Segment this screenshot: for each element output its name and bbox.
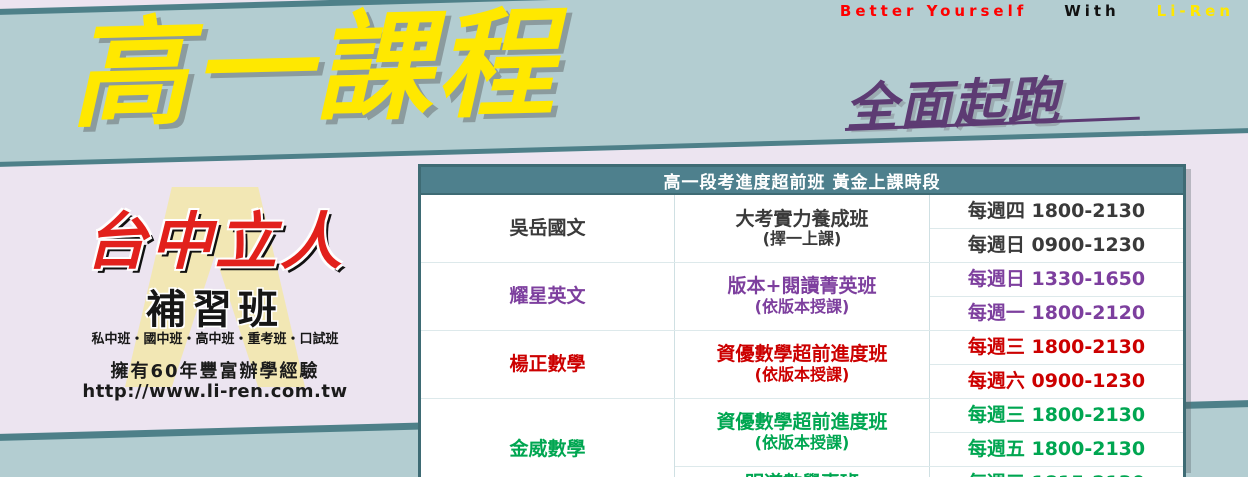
course-note: (依版本授課) [675,366,929,385]
cell-time: 每週三 1815-2130 [930,466,1185,477]
course-note: (擇一上課) [675,230,929,249]
poster-canvas: Better Yourself With Li-Ren 高一課程 全面起跑 台中… [0,0,1248,477]
logo-brand-sub: 補習班 [30,277,400,335]
logo-experience: 擁有60年豐富辦學經驗 [30,357,400,383]
logo-class-list: 私中班・國中班・高中班・重考班・口試班 [30,328,400,347]
cell-course: 明道數學專班 [675,466,930,477]
table-row: 耀星英文版本+閱讀菁英班(依版本授課)每週日 1330-1650 [420,262,1185,296]
cell-teacher: 吳岳國文 [420,194,675,262]
schedule-table-body: 吳岳國文大考實力養成班(擇一上課)每週四 1800-2130每週日 0900-1… [420,194,1185,477]
cell-teacher: 金威數學 [420,398,675,477]
cell-course: 資優數學超前進度班(依版本授課) [675,398,930,466]
schedule-table-title: 高一段考進度超前班 黃金上課時段 [420,166,1185,195]
logo-brand: 台中立人 [30,191,400,281]
course-name: 資優數學超前進度班 [716,343,887,365]
course-name: 版本+閱讀菁英班 [728,275,877,297]
cell-time: 每週六 0900-1230 [930,364,1185,398]
table-header-row: 高一段考進度超前班 黃金上課時段 [420,166,1185,195]
cell-time: 每週四 1800-2130 [930,194,1185,228]
tagline-red: Better Yourself [840,2,1027,20]
course-note: (依版本授課) [675,298,929,317]
cell-time: 每週一 1800-2120 [930,296,1185,330]
course-note: (依版本授課) [675,434,929,453]
cell-course: 版本+閱讀菁英班(依版本授課) [675,262,930,330]
tagline-yellow: Li-Ren [1157,2,1234,20]
logo: 台中立人 補習班 私中班・國中班・高中班・重考班・口試班 擁有60年豐富辦學經驗… [30,185,400,420]
course-name: 資優數學超前進度班 [716,411,887,433]
cell-time: 每週三 1800-2130 [930,398,1185,432]
cell-teacher: 楊正數學 [420,330,675,398]
course-name: 大考實力養成班 [735,208,868,230]
schedule-table: 高一段考進度超前班 黃金上課時段 吳岳國文大考實力養成班(擇一上課)每週四 18… [418,164,1186,477]
page-title: 高一課程 [68,0,559,145]
cell-time: 每週日 1330-1650 [930,262,1185,296]
schedule-table-head: 高一段考進度超前班 黃金上課時段 [420,166,1185,195]
cell-time: 每週五 1800-2130 [930,432,1185,466]
cell-course: 資優數學超前進度班(依版本授課) [675,330,930,398]
tagline-black: With [1064,2,1120,20]
course-name: 明道數學專班 [745,472,859,477]
cell-course: 大考實力養成班(擇一上課) [675,194,930,262]
logo-website-url[interactable]: http://www.li-ren.com.tw [30,381,400,402]
cell-time: 每週三 1800-2130 [930,330,1185,364]
cell-time: 每週日 0900-1230 [930,228,1185,262]
table-row: 吳岳國文大考實力養成班(擇一上課)每週四 1800-2130 [420,194,1185,228]
table-row: 楊正數學資優數學超前進度班(依版本授課)每週三 1800-2130 [420,330,1185,364]
table-row: 金威數學資優數學超前進度班(依版本授課)每週三 1800-2130 [420,398,1185,432]
cell-teacher: 耀星英文 [420,262,675,330]
